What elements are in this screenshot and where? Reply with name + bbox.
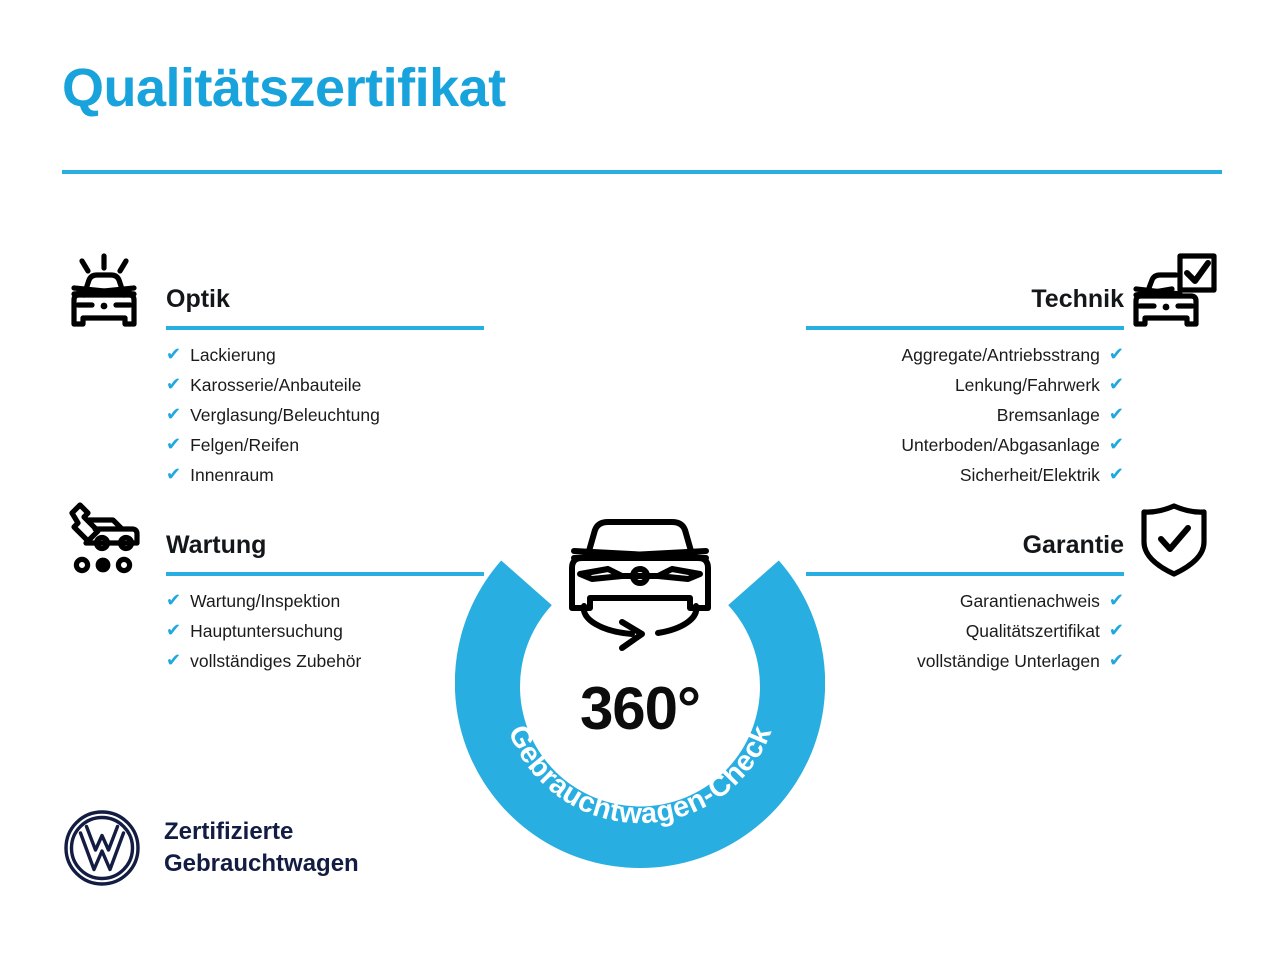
list-item: Unterboden/Abgasanlage ✔ bbox=[790, 430, 1124, 460]
check-icon: ✔ bbox=[166, 376, 181, 394]
list-item: ✔ Wartung/Inspektion bbox=[166, 586, 484, 616]
section-garantie-header: Garantie bbox=[790, 494, 1220, 586]
volkswagen-logo bbox=[62, 808, 142, 888]
list-item-label: Garantienachweis bbox=[960, 586, 1100, 616]
list-item: vollständige Unterlagen ✔ bbox=[790, 646, 1124, 676]
section-wartung: Wartung ✔ Wartung/Inspektion ✔ Hauptunte… bbox=[54, 494, 484, 676]
check-icon: ✔ bbox=[166, 406, 181, 424]
list-item-label: Verglasung/Beleuchtung bbox=[190, 400, 380, 430]
list-item-label: Innenraum bbox=[190, 460, 274, 490]
section-garantie-rule bbox=[806, 572, 1124, 576]
section-technik: Technik Aggregate/Antriebsstrang ✔ Lenku… bbox=[790, 248, 1220, 490]
list-item: Sicherheit/Elektrik ✔ bbox=[790, 460, 1124, 490]
wrench-car-service-icon bbox=[58, 494, 150, 586]
title-divider bbox=[62, 170, 1222, 174]
brand-text-line2: Gebrauchtwagen bbox=[164, 848, 359, 880]
shield-check-icon bbox=[1128, 494, 1220, 586]
brand-text-line1: Zertifizierte bbox=[164, 816, 359, 848]
check-icon: ✔ bbox=[1109, 376, 1124, 394]
list-item-label: Unterboden/Abgasanlage bbox=[901, 430, 1100, 460]
svg-text:Gebrauchtwagen-Check: Gebrauchtwagen-Check bbox=[502, 721, 779, 831]
check-icon: ✔ bbox=[166, 346, 181, 364]
section-optik-rule bbox=[166, 326, 484, 330]
list-item: Garantienachweis ✔ bbox=[790, 586, 1124, 616]
check-icon: ✔ bbox=[1109, 346, 1124, 364]
section-wartung-header: Wartung bbox=[54, 494, 484, 586]
list-item-label: Hauptuntersuchung bbox=[190, 616, 343, 646]
check-icon: ✔ bbox=[1109, 622, 1124, 640]
check-icon: ✔ bbox=[1109, 592, 1124, 610]
section-wartung-title: Wartung bbox=[166, 531, 266, 560]
brand-lockup: Zertifizierte Gebrauchtwagen bbox=[62, 808, 359, 888]
list-item: Aggregate/Antriebsstrang ✔ bbox=[790, 340, 1124, 370]
list-item: ✔ Hauptuntersuchung bbox=[166, 616, 484, 646]
check-icon: ✔ bbox=[166, 652, 181, 670]
car-front-shine-icon bbox=[58, 248, 150, 340]
list-item-label: Lenkung/Fahrwerk bbox=[955, 370, 1100, 400]
list-item-label: Karosserie/Anbauteile bbox=[190, 370, 361, 400]
list-item: ✔ Felgen/Reifen bbox=[166, 430, 484, 460]
badge-360-gebrauchtwagen-check: 360° Gebrauchtwagen-Check bbox=[455, 498, 825, 868]
section-technik-title: Technik bbox=[1031, 285, 1124, 314]
section-technik-list: Aggregate/Antriebsstrang ✔ Lenkung/Fahrw… bbox=[790, 340, 1124, 490]
check-icon: ✔ bbox=[1109, 466, 1124, 484]
check-icon: ✔ bbox=[1109, 436, 1124, 454]
list-item-label: Lackierung bbox=[190, 340, 276, 370]
list-item-label: Sicherheit/Elektrik bbox=[960, 460, 1100, 490]
check-icon: ✔ bbox=[166, 436, 181, 454]
list-item: ✔ Lackierung bbox=[166, 340, 484, 370]
brand-text: Zertifizierte Gebrauchtwagen bbox=[164, 816, 359, 880]
list-item: Qualitätszertifikat ✔ bbox=[790, 616, 1124, 646]
section-optik-title: Optik bbox=[166, 285, 230, 314]
badge-curved-label: Gebrauchtwagen-Check bbox=[455, 498, 825, 868]
section-technik-header: Technik bbox=[790, 248, 1220, 340]
list-item-label: Wartung/Inspektion bbox=[190, 586, 340, 616]
list-item-label: Qualitätszertifikat bbox=[966, 616, 1100, 646]
list-item-label: Felgen/Reifen bbox=[190, 430, 299, 460]
page-title: Qualitätszertifikat bbox=[62, 60, 506, 117]
section-optik: Optik ✔ Lackierung ✔ Karosserie/Anbautei… bbox=[54, 248, 484, 490]
section-technik-rule bbox=[806, 326, 1124, 330]
car-front-checkbox-icon bbox=[1128, 248, 1220, 340]
list-item-label: Aggregate/Antriebsstrang bbox=[901, 340, 1099, 370]
list-item: Bremsanlage ✔ bbox=[790, 400, 1124, 430]
list-item: ✔ vollständiges Zubehör bbox=[166, 646, 484, 676]
section-garantie-title: Garantie bbox=[1023, 531, 1124, 560]
list-item-label: vollständige Unterlagen bbox=[917, 646, 1100, 676]
list-item: ✔ Karosserie/Anbauteile bbox=[166, 370, 484, 400]
list-item: Lenkung/Fahrwerk ✔ bbox=[790, 370, 1124, 400]
list-item: ✔ Verglasung/Beleuchtung bbox=[166, 400, 484, 430]
check-icon: ✔ bbox=[166, 466, 181, 484]
section-optik-list: ✔ Lackierung ✔ Karosserie/Anbauteile ✔ V… bbox=[166, 340, 484, 490]
check-icon: ✔ bbox=[166, 592, 181, 610]
check-icon: ✔ bbox=[1109, 406, 1124, 424]
check-icon: ✔ bbox=[1109, 652, 1124, 670]
section-wartung-rule bbox=[166, 572, 484, 576]
certificate-sections: Optik ✔ Lackierung ✔ Karosserie/Anbautei… bbox=[0, 248, 1280, 718]
list-item-label: vollständiges Zubehör bbox=[190, 646, 361, 676]
section-wartung-list: ✔ Wartung/Inspektion ✔ Hauptuntersuchung… bbox=[166, 586, 484, 676]
section-garantie-list: Garantienachweis ✔ Qualitätszertifikat ✔… bbox=[790, 586, 1124, 676]
section-garantie: Garantie Garantienachweis ✔ Qualitätszer… bbox=[790, 494, 1220, 676]
list-item-label: Bremsanlage bbox=[997, 400, 1100, 430]
section-optik-header: Optik bbox=[54, 248, 484, 340]
list-item: ✔ Innenraum bbox=[166, 460, 484, 490]
check-icon: ✔ bbox=[166, 622, 181, 640]
